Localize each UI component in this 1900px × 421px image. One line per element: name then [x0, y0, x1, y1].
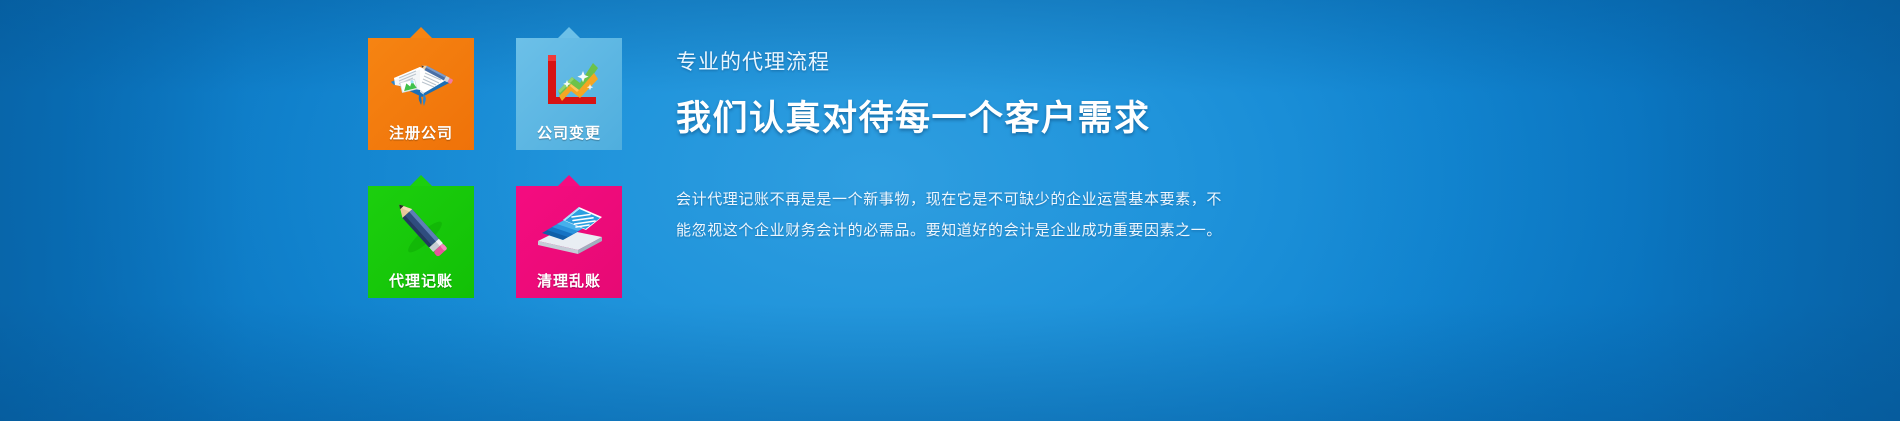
tile-face: 清理乱账 [516, 186, 622, 298]
tile-notch-icon [410, 27, 432, 38]
pencil-icon [368, 194, 474, 262]
growth-chart-icon [516, 46, 622, 114]
banner-headline: 我们认真对待每一个客户需求 [676, 98, 1396, 140]
document-stack-icon [516, 194, 622, 262]
tile-face: 注册公司 [368, 38, 474, 150]
banner-copy: 专业的代理流程 我们认真对待每一个客户需求 会计代理记账不再是是一个新事物，现在… [676, 50, 1396, 246]
tile-notch-icon [410, 175, 432, 186]
service-tile-clean-accounts[interactable]: 清理乱账 [516, 186, 622, 298]
tile-label: 代理记账 [368, 274, 474, 289]
service-tile-grid: 注册公司 [368, 38, 624, 298]
open-book-icon [368, 46, 474, 114]
tile-notch-icon [558, 175, 580, 186]
promo-banner: 注册公司 [0, 0, 1900, 421]
tile-notch-icon [558, 27, 580, 38]
tile-face: 公司变更 [516, 38, 622, 150]
banner-eyebrow: 专业的代理流程 [676, 50, 1396, 75]
tile-face: 代理记账 [368, 186, 474, 298]
service-tile-bookkeeping[interactable]: 代理记账 [368, 186, 474, 298]
tile-label: 注册公司 [368, 126, 474, 141]
service-tile-company-change[interactable]: 公司变更 [516, 38, 622, 150]
service-tile-register-company[interactable]: 注册公司 [368, 38, 474, 150]
tile-label: 清理乱账 [516, 274, 622, 289]
tile-label: 公司变更 [516, 126, 622, 141]
banner-body-text: 会计代理记账不再是是一个新事物，现在它是不可缺少的企业运营基本要素，不能忽视这个… [676, 184, 1228, 246]
